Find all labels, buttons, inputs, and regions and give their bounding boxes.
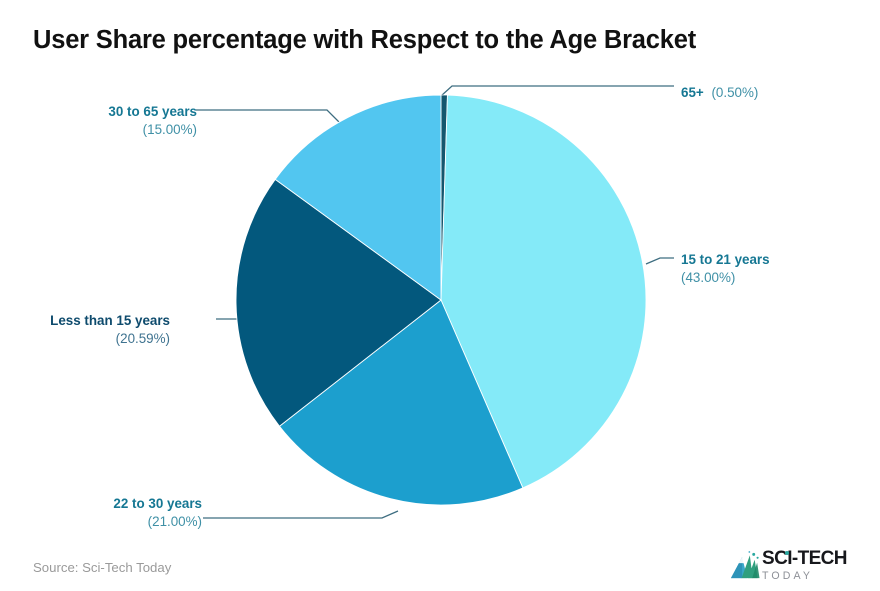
- callout-percent-text: (15.00%): [108, 121, 197, 139]
- callout-label-text: 30 to 65 years: [108, 103, 197, 121]
- leader-line-22-30: [203, 511, 398, 518]
- logo-primary-text: SCI-TECH: [762, 549, 854, 568]
- callout-percent-text: (21.00%): [113, 513, 202, 531]
- leader-line-15-21: [646, 258, 674, 264]
- brand-logo: SCI-TECH TODAY: [728, 548, 853, 586]
- logo-accent-dot-icon: [785, 551, 789, 555]
- callout-label-text: 65+: [681, 85, 704, 100]
- callout-label-text: 15 to 21 years: [681, 251, 770, 269]
- callout-percent-text: (20.59%): [50, 330, 170, 348]
- mountain-chart-logo-icon: [728, 550, 761, 582]
- logo-wordmark: SCI-TECH TODAY: [762, 549, 854, 582]
- leader-line-30-65: [196, 110, 339, 122]
- callout-percent-text: (43.00%): [681, 269, 770, 287]
- callout-label-15-21: 15 to 21 years (43.00%): [681, 251, 770, 287]
- callout-label-text: 22 to 30 years: [113, 495, 202, 513]
- callout-percent-text: (0.50%): [711, 85, 758, 100]
- logo-secondary-text: TODAY: [762, 571, 854, 582]
- callout-label-30-65: 30 to 65 years (15.00%): [108, 103, 197, 139]
- callout-label-under-15: Less than 15 years (20.59%): [50, 312, 170, 348]
- pie-slices: [236, 95, 646, 505]
- chart-canvas: User Share percentage with Respect to th…: [0, 0, 880, 591]
- callout-label-22-30: 22 to 30 years (21.00%): [113, 495, 202, 531]
- source-caption: Source: Sci-Tech Today: [33, 560, 171, 575]
- callout-label-65-plus: 65+ (0.50%): [681, 84, 758, 102]
- callout-label-text: Less than 15 years: [50, 312, 170, 330]
- leader-line-65-plus: [441, 86, 674, 96]
